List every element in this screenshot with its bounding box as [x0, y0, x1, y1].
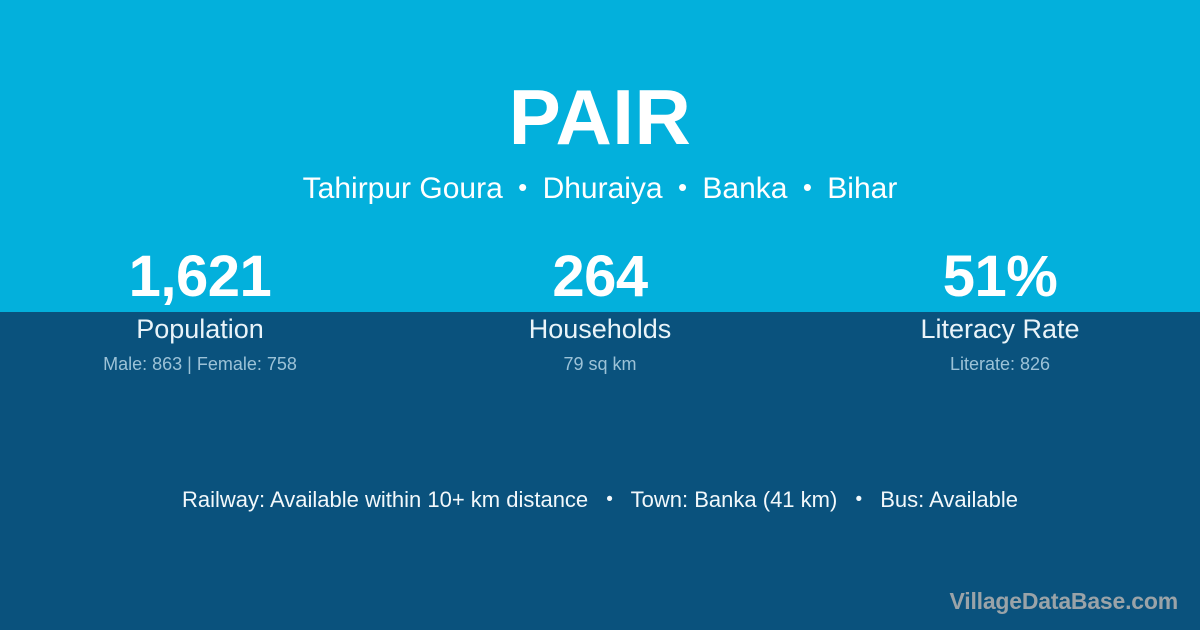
site-watermark: VillageDataBase.com: [950, 589, 1178, 614]
stat-label: Households: [400, 315, 800, 344]
stat-label: Literacy Rate: [800, 315, 1200, 344]
stat-value: 264: [400, 248, 800, 306]
breadcrumb-block: Dhuraiya: [543, 172, 663, 205]
breadcrumb-village: Tahirpur Goura: [303, 172, 503, 205]
stat-value: 51%: [800, 248, 1200, 306]
breadcrumb: Tahirpur Goura • Dhuraiya • Banka • Biha…: [0, 174, 1200, 204]
facility-railway: Railway: Available within 10+ km distanc…: [182, 487, 588, 512]
breadcrumb-district: Banka: [702, 172, 787, 205]
facility-bus: Bus: Available: [880, 487, 1018, 512]
village-info-card: PAIR Tahirpur Goura • Dhuraiya • Banka •…: [0, 0, 1200, 630]
card-header: PAIR Tahirpur Goura • Dhuraiya • Banka •…: [0, 0, 1200, 204]
facility-town: Town: Banka (41 km): [631, 487, 838, 512]
breadcrumb-separator-icon: •: [511, 172, 534, 202]
stat-population: 1,621 Population Male: 863 | Female: 758: [0, 248, 400, 374]
facility-separator-icon: •: [594, 489, 625, 510]
statistics-row: 1,621 Population Male: 863 | Female: 758…: [0, 248, 1200, 374]
stat-value: 1,621: [0, 248, 400, 306]
stat-literacy-rate: 51% Literacy Rate Literate: 826: [800, 248, 1200, 374]
stat-label: Population: [0, 315, 400, 344]
breadcrumb-state: Bihar: [827, 172, 897, 205]
facility-separator-icon: •: [843, 489, 874, 510]
stat-sublabel: Male: 863 | Female: 758: [0, 354, 400, 374]
stat-sublabel: 79 sq km: [400, 354, 800, 374]
breadcrumb-separator-icon: •: [671, 172, 694, 202]
facilities-summary: Railway: Available within 10+ km distanc…: [0, 485, 1200, 515]
breadcrumb-separator-icon: •: [796, 172, 819, 202]
stat-households: 264 Households 79 sq km: [400, 248, 800, 374]
stat-sublabel: Literate: 826: [800, 354, 1200, 374]
page-title: PAIR: [0, 78, 1200, 156]
